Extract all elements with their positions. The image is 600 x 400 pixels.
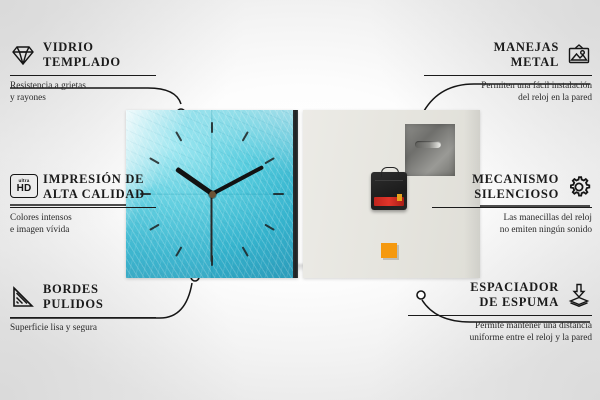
callout-title-line2: SILENCIOSO [474,187,559,201]
callout-header: VIDRIO TEMPLADO [10,40,156,71]
callout-desc-line1: Permite mantener una distancia [475,321,592,331]
product-photo [126,110,480,278]
callout-title-line2: ALTA CALIDAD [43,187,145,201]
callout-title-line1: BORDES [43,282,99,296]
callout-desc-line1: Permiten una fácil instalación [481,81,592,91]
callout-rule [424,75,592,76]
callout-desc-line2: no emiten ningún sonido [500,225,592,235]
callout-desc-line1: Colores intensos [10,213,72,223]
hanger-slot [415,141,441,148]
mechanism-seam [375,180,403,181]
hanging-picture-icon [566,42,592,68]
metal-hanger-plate [405,124,455,176]
callout-impresion: ultra HD IMPRESIÓN DE ALTA CALIDAD Color… [10,172,156,236]
callout-desc-line1: Las manecillas del reloj [503,213,592,223]
callout-desc-line2: e imagen vívida [10,225,69,235]
callout-title-line2: TEMPLADO [43,55,121,69]
callout-manejas: MANEJAS METAL Permiten una fácil instala… [424,40,592,104]
mechanism-hook [381,167,399,177]
diamond-icon [10,42,36,68]
callout-title-line1: IMPRESIÓN DE [43,172,144,186]
foam-spacer [381,243,397,258]
callout-desc-line2: del reloj en la pared [518,93,592,103]
infographic-canvas: VIDRIO TEMPLADO Resistencia a grietas y … [0,0,600,400]
callout-rule [408,315,592,316]
ultra-hd-icon: ultra HD [10,174,36,200]
callout-rule [10,317,156,318]
callout-title-line2: DE ESPUMA [479,295,559,309]
gear-icon [566,174,592,200]
callout-title-line1: VIDRIO [43,40,94,54]
callout-bordes: BORDES PULIDOS Superficie lisa y segura [10,282,156,334]
callout-header: ultra HD IMPRESIÓN DE ALTA CALIDAD [10,172,156,203]
callout-header: MANEJAS METAL [424,40,592,71]
callout-desc-line1: Superficie lisa y segura [10,323,97,333]
callout-desc-line2: y rayones [10,93,46,103]
hd-icon-main-text: HD [17,184,32,194]
callout-title-line2: METAL [511,55,559,69]
callout-header: BORDES PULIDOS [10,282,156,313]
battery [374,197,404,206]
callout-header: MECANISMO SILENCIOSO [432,172,592,203]
callout-desc-line1: Resistencia a grietas [10,81,86,91]
callout-rule [10,75,156,76]
glass-edge [293,110,298,278]
callout-rule [432,207,592,208]
callout-title-line1: ESPACIADOR [470,280,559,294]
callout-header: ESPACIADOR DE ESPUMA [408,280,592,311]
callout-title-line1: MANEJAS [494,40,559,54]
callout-desc-line2: uniforme entre el reloj y la pared [470,333,592,343]
foam-spacer-icon [566,282,592,308]
callout-title-line2: PULIDOS [43,297,103,311]
clock-mechanism-box [371,172,407,210]
callout-title-line1: MECANISMO [472,172,559,186]
callout-vidrio-templado: VIDRIO TEMPLADO Resistencia a grietas y … [10,40,156,104]
callout-rule [10,207,156,208]
callout-mecanismo: MECANISMO SILENCIOSO Las manecillas del … [432,172,592,236]
callout-espaciador: ESPACIADOR DE ESPUMA Permite mantener un… [408,280,592,344]
polished-edge-icon [10,284,36,310]
clock-center-cap [209,191,216,198]
